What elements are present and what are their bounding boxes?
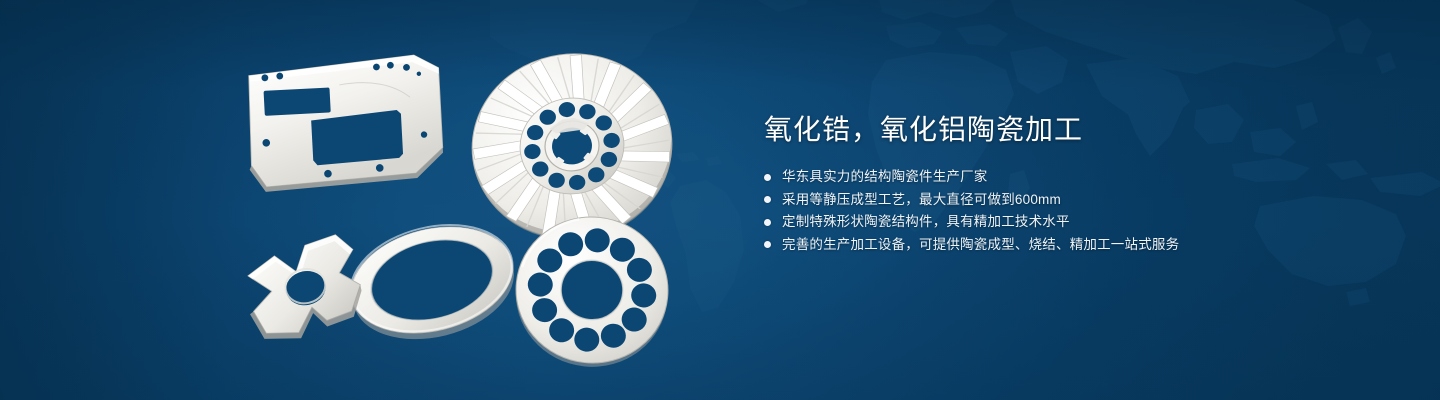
list-item: 华东具实力的结构陶瓷件生产厂家 bbox=[764, 166, 1384, 188]
banner-copy: 氧化锆，氧化铝陶瓷加工 华东具实力的结构陶瓷件生产厂家 采用等静压成型工艺，最大… bbox=[764, 112, 1384, 256]
ceramic-ring bbox=[340, 209, 526, 355]
bullet-dot-icon bbox=[764, 174, 771, 181]
feature-text: 完善的生产加工设备，可提供陶瓷成型、烧结、精加工一站式服务 bbox=[782, 234, 1179, 256]
bullet-dot-icon bbox=[764, 219, 771, 226]
list-item: 定制特殊形状陶瓷结构件，具有精加工技术水平 bbox=[764, 211, 1384, 233]
bullet-dot-icon bbox=[764, 196, 771, 203]
feature-text: 定制特殊形状陶瓷结构件，具有精加工技术水平 bbox=[782, 211, 1070, 233]
ceramic-perforated-disc bbox=[508, 209, 675, 374]
ceramic-cross-part bbox=[238, 232, 369, 348]
list-item: 采用等静压成型工艺，最大直径可做到600mm bbox=[764, 189, 1384, 211]
bullet-dot-icon bbox=[764, 241, 771, 248]
ceramic-mounting-plate bbox=[244, 54, 444, 193]
product-photo-cluster bbox=[232, 44, 712, 374]
feature-list: 华东具实力的结构陶瓷件生产厂家 采用等静压成型工艺，最大直径可做到600mm 定… bbox=[764, 166, 1384, 256]
page-title: 氧化锆，氧化铝陶瓷加工 bbox=[764, 112, 1384, 148]
feature-text: 采用等静压成型工艺，最大直径可做到600mm bbox=[782, 189, 1061, 211]
hero-banner: 氧化锆，氧化铝陶瓷加工 华东具实力的结构陶瓷件生产厂家 采用等静压成型工艺，最大… bbox=[0, 0, 1440, 400]
feature-text: 华东具实力的结构陶瓷件生产厂家 bbox=[782, 166, 988, 188]
list-item: 完善的生产加工设备，可提供陶瓷成型、烧结、精加工一站式服务 bbox=[764, 234, 1384, 256]
